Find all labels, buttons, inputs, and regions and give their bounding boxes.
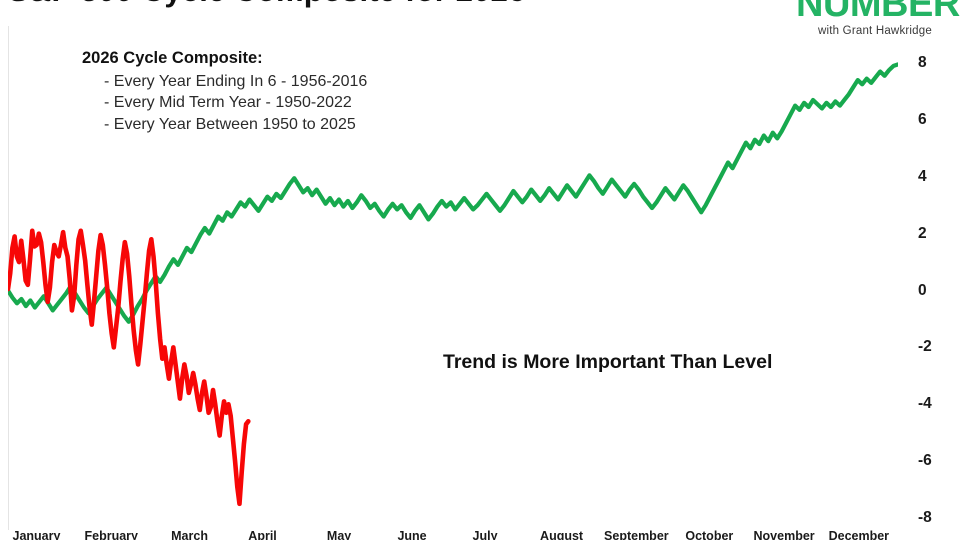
x-axis-tick-label: February [84, 529, 138, 540]
slide-canvas: S&P 500 Cycle Composite for 2026 ▼ NUMBE… [0, 0, 960, 540]
x-axis-tick-label: June [397, 529, 426, 540]
x-axis-tick-label: January [12, 529, 60, 540]
callout-text: Trend is More Important Than Level [443, 351, 772, 374]
x-axis-tick-label: December [829, 529, 889, 540]
x-axis-tick-label: April [248, 529, 276, 540]
x-axis-tick-label: July [473, 529, 498, 540]
x-axis-tick-label: September [604, 529, 669, 540]
x-axis-tick-label: May [327, 529, 351, 540]
x-axis-tick-label: August [540, 529, 583, 540]
x-axis-tick-label: November [754, 529, 815, 540]
x-axis-tick-label: October [685, 529, 733, 540]
x-axis-labels: JanuaryFebruaryMarchAprilMayJuneJulyAugu… [0, 0, 960, 540]
x-axis-tick-label: March [171, 529, 208, 540]
